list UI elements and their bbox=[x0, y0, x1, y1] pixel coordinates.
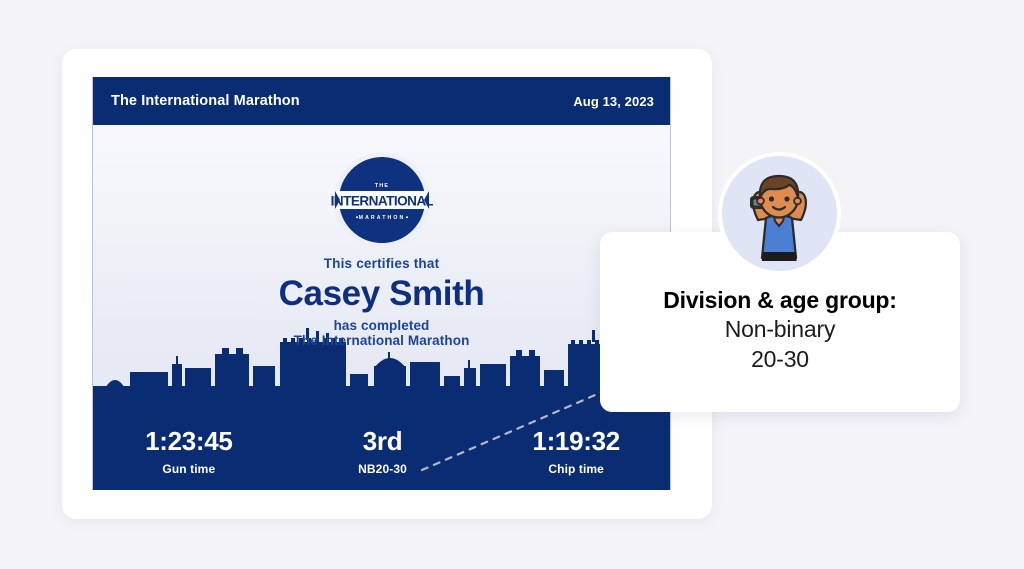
logo-icon: THE INTERNATIONAL MARATHON bbox=[331, 149, 433, 251]
person-celebrating-icon bbox=[722, 156, 837, 271]
completed-event-name: The International Marathon bbox=[93, 333, 670, 348]
stat-chip-time: 1:19:32 Chip time bbox=[479, 428, 671, 476]
stat-value: 1:23:45 bbox=[92, 428, 286, 455]
completed-text: has completed bbox=[93, 318, 670, 333]
marathon-logo-badge: THE INTERNATIONAL MARATHON bbox=[331, 149, 433, 251]
certificate-header: The International Marathon Aug 13, 2023 bbox=[92, 77, 671, 125]
stats-bar: 1:23:45 Gun time 3rd NB20-30 1:19:32 Chi… bbox=[92, 414, 671, 490]
stat-value: 1:19:32 bbox=[479, 428, 671, 455]
stat-placement: 3rd NB20-30 bbox=[286, 428, 480, 476]
certificate: The International Marathon Aug 13, 2023 bbox=[92, 77, 671, 490]
logo-bottom-word: MARATHON bbox=[358, 215, 405, 221]
logo-top-word: THE bbox=[374, 183, 388, 189]
callout-division: Non-binary bbox=[600, 314, 960, 344]
avatar bbox=[718, 152, 841, 275]
stat-label: Gun time bbox=[92, 462, 286, 476]
stat-gun-time: 1:23:45 Gun time bbox=[92, 428, 286, 476]
certificate-body: This certifies that Casey Smith has comp… bbox=[93, 256, 670, 348]
stat-label: NB20-30 bbox=[286, 462, 480, 476]
stat-label: Chip time bbox=[479, 462, 671, 476]
event-title: The International Marathon bbox=[111, 93, 300, 109]
event-date: Aug 13, 2023 bbox=[573, 94, 654, 109]
callout-title: Division & age group: bbox=[600, 287, 960, 314]
callout-age-group: 20-30 bbox=[600, 344, 960, 374]
stat-value: 3rd bbox=[286, 428, 480, 455]
runner-name: Casey Smith bbox=[93, 273, 670, 314]
certifies-text: This certifies that bbox=[93, 256, 670, 271]
logo-main-word: INTERNATIONAL bbox=[331, 193, 433, 208]
